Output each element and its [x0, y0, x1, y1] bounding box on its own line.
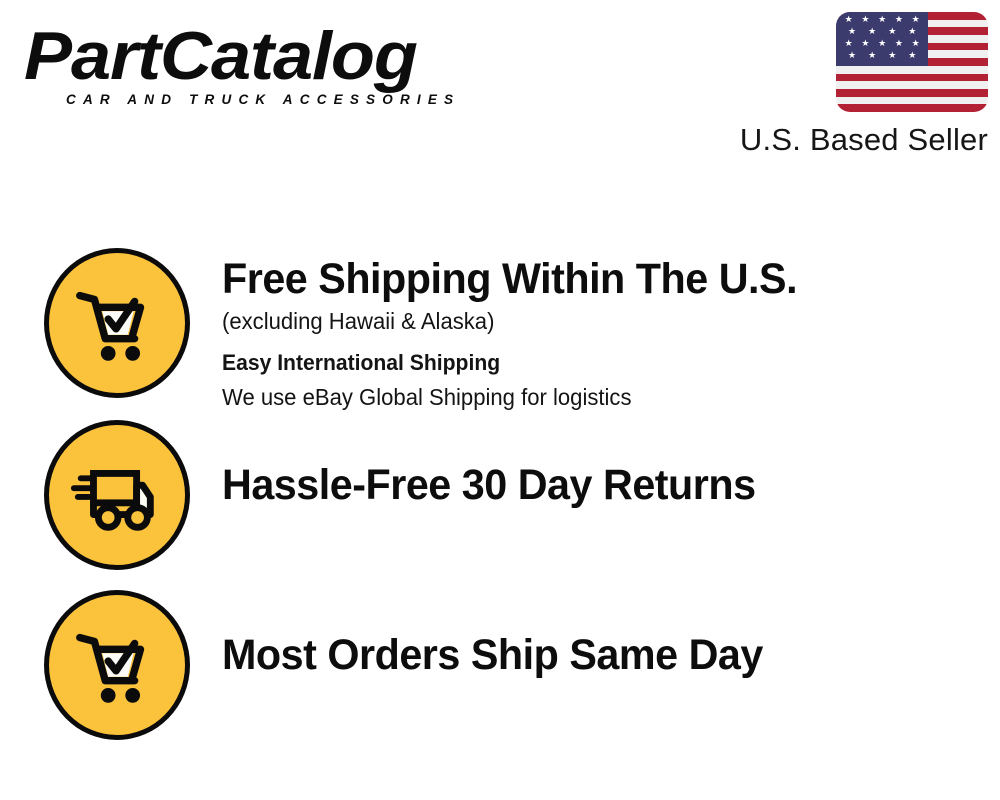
brand-logo-wordmark: PartCatalog	[24, 22, 522, 90]
flag-canton: ★★★★★ ★★★★ ★★★★★ ★★★★	[836, 12, 928, 66]
shopping-cart-check-icon	[44, 248, 190, 398]
feature-text-block: Free Shipping Within The U.S. (excluding…	[222, 248, 1000, 414]
brand-logo: PartCatalog CAR AND TRUCK ACCESSORIES	[24, 22, 494, 107]
feature-subtitle-strong: Easy International Shipping	[222, 346, 969, 380]
feature-row: Free Shipping Within The U.S. (excluding…	[0, 248, 1000, 414]
banner-header: PartCatalog CAR AND TRUCK ACCESSORIES ★★…	[0, 0, 1000, 175]
feature-title: Free Shipping Within The U.S.	[222, 254, 969, 304]
feature-text-block: Most Orders Ship Same Day	[222, 590, 1000, 680]
feature-title: Hassle-Free 30 Day Returns	[222, 460, 969, 510]
feature-row: Hassle-Free 30 Day Returns	[0, 420, 1000, 570]
feature-title: Most Orders Ship Same Day	[222, 630, 969, 680]
feature-row: Most Orders Ship Same Day	[0, 590, 1000, 740]
shopping-cart-check-icon	[44, 590, 190, 740]
delivery-truck-icon	[44, 420, 190, 570]
brand-logo-tagline: CAR AND TRUCK ACCESSORIES	[66, 92, 494, 107]
feature-subtitle: (excluding Hawaii & Alaska)	[222, 304, 969, 338]
us-flag-icon: ★★★★★ ★★★★ ★★★★★ ★★★★	[836, 12, 988, 112]
feature-subtitle-detail: We use eBay Global Shipping for logistic…	[222, 380, 969, 414]
us-based-seller-badge: ★★★★★ ★★★★ ★★★★★ ★★★★ U.S. Based Seller	[688, 12, 988, 159]
feature-text-block: Hassle-Free 30 Day Returns	[222, 420, 1000, 510]
us-based-seller-label: U.S. Based Seller	[688, 121, 988, 159]
